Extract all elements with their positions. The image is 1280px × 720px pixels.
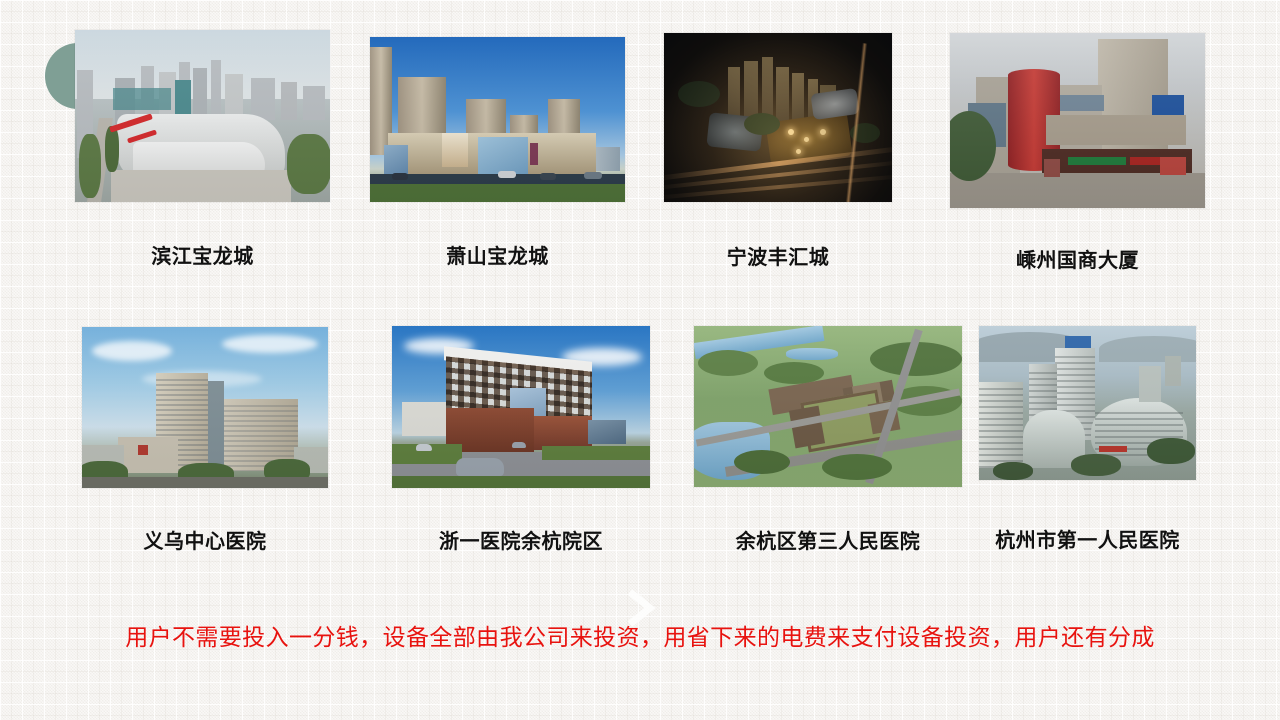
gallery-card-1[interactable]: 滨江宝龙城 — [75, 30, 330, 202]
gallery-caption-2: 萧山宝龙城 — [370, 240, 625, 269]
gallery-caption-4: 嵊州国商大厦 — [950, 244, 1205, 273]
gallery-caption-1: 滨江宝龙城 — [75, 240, 330, 269]
gallery-caption-8: 杭州市第一人民医院 — [979, 524, 1196, 553]
photo-ningbo-fenghui-city — [664, 33, 892, 202]
gallery-caption-3: 宁波丰汇城 — [664, 241, 892, 270]
photo-zheyi-hospital-yuhang — [392, 326, 650, 488]
photo-hangzhou-first-peoples-hospital — [979, 326, 1196, 480]
bottom-statement-text: 用户不需要投入一分钱，设备全部由我公司来投资，用省下来的电费来支付设备投资，用户… — [0, 618, 1280, 652]
photo-xiaoshan-powerlong-city — [370, 37, 625, 202]
photo-yiwu-central-hospital — [82, 327, 328, 488]
gallery-card-5[interactable]: 义乌中心医院 — [82, 327, 328, 488]
slide-canvas: 滨江宝龙城 — [0, 0, 1280, 720]
gallery-card-7[interactable]: 余杭区第三人民医院 — [694, 326, 962, 487]
gallery-card-6[interactable]: 浙一医院余杭院区 — [392, 326, 650, 488]
gallery-caption-7: 余杭区第三人民医院 — [694, 525, 962, 554]
photo-binjiang-powerlong-city — [75, 30, 330, 202]
photo-yuhang-third-peoples-hospital — [694, 326, 962, 487]
gallery-caption-5: 义乌中心医院 — [82, 525, 328, 554]
gallery-card-3[interactable]: 宁波丰汇城 — [664, 33, 892, 202]
gallery-card-4[interactable]: 嵊州国商大厦 — [950, 33, 1205, 208]
gallery-card-8[interactable]: 杭州市第一人民医院 — [979, 326, 1196, 480]
photo-shengzhou-guoshang-building — [950, 33, 1205, 208]
gallery-caption-6: 浙一医院余杭院区 — [392, 525, 650, 554]
gallery-card-2[interactable]: 萧山宝龙城 — [370, 37, 625, 202]
